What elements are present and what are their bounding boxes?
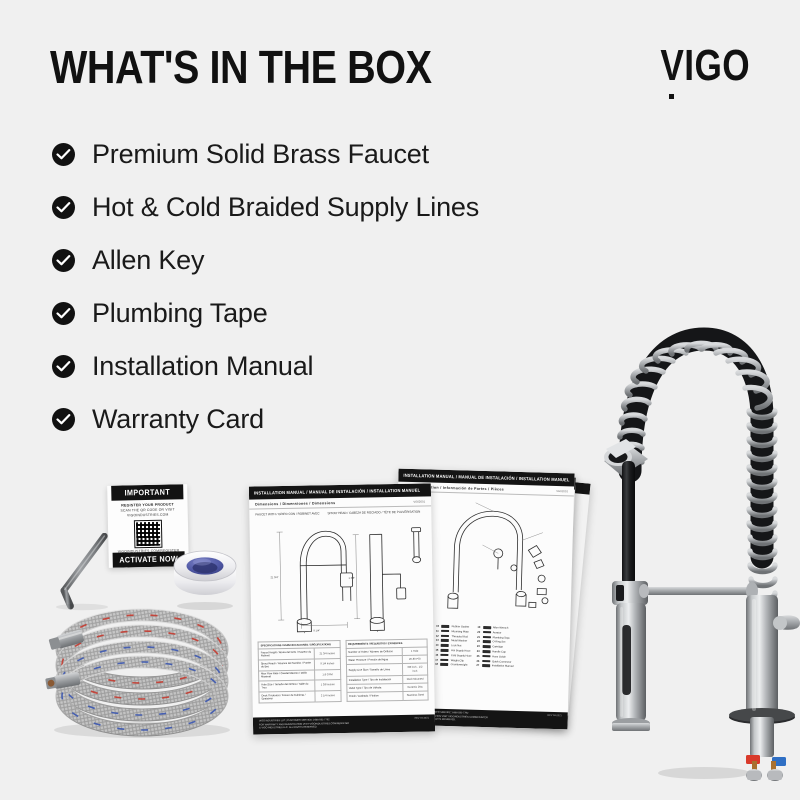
installation-manual-photo: VIGO VIGO INSTALLATION MANUAL / MANUAL D… (245, 465, 590, 750)
svg-text:21 3/4": 21 3/4" (270, 575, 278, 579)
header: WHAT'S IN THE BOX VIGO (0, 0, 800, 110)
spec-table: REQUIREMENTS / REQUISITOS / EXIGENCES Nu… (345, 639, 429, 702)
list-item: Premium Solid Brass Faucet (52, 128, 612, 181)
hot-supply-connector (746, 755, 762, 781)
list-item-label: Premium Solid Brass Faucet (92, 141, 429, 168)
faucet-photo (586, 265, 800, 785)
braided-supply-lines-photo (30, 595, 245, 740)
check-circle-icon (52, 302, 75, 325)
dimension-diagram: 21 3/4" 9 1/4" 1 3/8" (255, 514, 427, 635)
list-item-label: Installation Manual (92, 353, 313, 380)
supply-lines-product-name: Hot & Cold Braided Supply Lines (0, 455, 1, 456)
svg-text:1 3/8": 1 3/8" (348, 576, 355, 580)
parts-list-column: 19Allen Wrench 20Aerator 21Plumbing Tape… (476, 626, 514, 670)
manual-section-label: Dimensions / Dimensiones / Dimensions (255, 501, 335, 506)
page-title: WHAT'S IN THE BOX (50, 44, 432, 90)
qr-code-icon (135, 521, 162, 548)
spec-tables-group: SPECIFICATIONS / ESPECIFICACIONES / SPÉC… (258, 639, 429, 704)
included-items-list: Premium Solid Brass Faucet Hot & Cold Br… (52, 128, 612, 446)
manual-footer-code: REV 04-2021 (547, 714, 561, 717)
parts-list-column: 10Rubber Gasket 11Mounting Plate 12Threa… (435, 625, 472, 669)
manual-page-code: VG02001 (413, 500, 425, 504)
svg-text:9 1/4": 9 1/4" (313, 628, 320, 632)
list-item: Allen Key (52, 234, 612, 287)
list-item: Plumbing Tape (52, 287, 612, 340)
spec-table: SPECIFICATIONS / ESPECIFICACIONES / SPÉC… (258, 640, 342, 703)
list-item-label: Warranty Card (92, 406, 264, 433)
check-circle-icon (52, 355, 75, 378)
list-item: Warranty Card (52, 393, 612, 446)
allen-key-product-name: Allen Key (0, 455, 1, 456)
manual-header-text: INSTALLATION MANUAL / MANUAL DE INSTALAC… (254, 488, 420, 496)
list-item-label: Plumbing Tape (92, 300, 268, 327)
manual-footer-line: © VIGO INDUSTRIES LLC. ALL RIGHTS RESERV… (259, 725, 378, 731)
check-circle-icon (52, 196, 75, 219)
warranty-card-body-caption: SCAN THE QR CODE OR VISIT VIGOINDUSTRIES… (115, 507, 181, 519)
manual-header-text: INSTALLATION MANUAL / MANUAL DE INSTALAC… (403, 473, 569, 483)
product-photo-group: IMPORTANT REGISTER YOUR PRODUCT SCAN THE… (0, 455, 800, 800)
cold-supply-connector (767, 757, 786, 781)
list-item: Installation Manual (52, 340, 612, 393)
manual-footer-bar: VIGO INDUSTRIES LLC | CUSTOMER SERVICE 1… (253, 714, 435, 734)
list-item-label: Hot & Cold Braided Supply Lines (92, 194, 479, 221)
whats-in-the-box-infographic: WHAT'S IN THE BOX VIGO Premium Solid Bra… (0, 0, 800, 800)
faucet-product-name: Premium Solid Brass Pull-Down Faucet (0, 455, 1, 456)
check-circle-icon (52, 408, 75, 431)
manual-left-body: FAUCET WITH / GRIFO CON / ROBINET AVEC S… (249, 506, 434, 706)
manual-page-code: VG02001 (556, 489, 568, 493)
check-circle-icon (52, 249, 75, 272)
check-circle-icon (52, 143, 75, 166)
manual-page-left: INSTALLATION MANUAL / MANUAL DE INSTALAC… (249, 483, 435, 734)
vigo-brand-logo: VIGO (638, 44, 750, 90)
brand-wordmark: VIGO (660, 44, 750, 88)
list-item: Hot & Cold Braided Supply Lines (52, 181, 612, 234)
plumbing-tape-product-name: Plumbing Tape (0, 455, 1, 456)
manual-footer-code: REV 04-2021 (415, 716, 429, 719)
warranty-card-header: IMPORTANT (111, 484, 183, 501)
list-item-label: Allen Key (92, 247, 204, 274)
brand-dot-icon (669, 94, 674, 99)
